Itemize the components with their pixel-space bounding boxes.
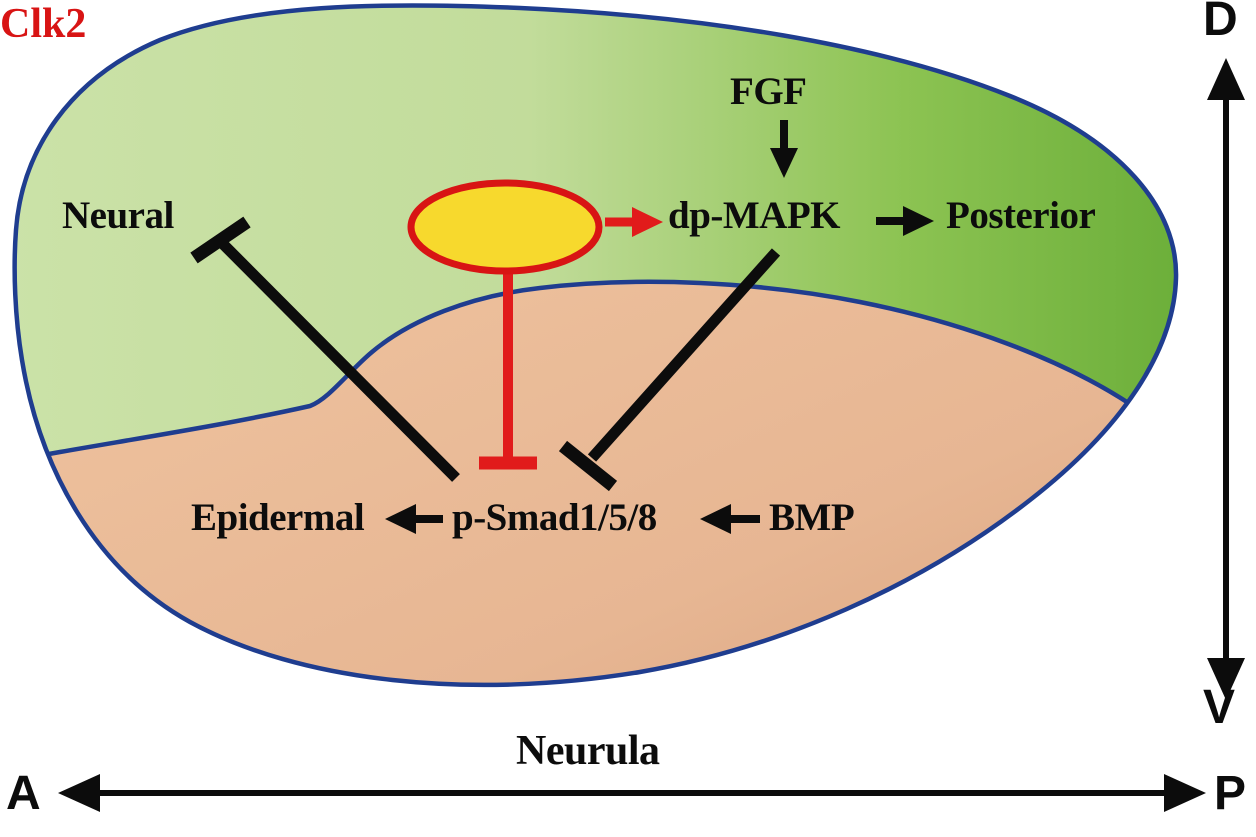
axis-label-ventral: V — [1203, 684, 1235, 732]
diagram-svg — [0, 0, 1256, 837]
node-label-fgf[interactable]: FGF — [730, 72, 806, 111]
clk2-node-ellipse[interactable] — [411, 183, 599, 271]
node-label-p-smad[interactable]: p-Smad1/5/8 — [452, 498, 657, 537]
arrowhead-left-icon — [58, 774, 100, 812]
node-label-posterior[interactable]: Posterior — [946, 196, 1095, 235]
axis-label-dorsal: D — [1203, 0, 1238, 44]
axis-label-posterior: P — [1214, 770, 1246, 818]
node-label-neural[interactable]: Neural — [62, 196, 174, 235]
arrowhead-right-icon — [1164, 774, 1206, 812]
dorsal-ventral-axis-arrow — [1207, 58, 1245, 700]
axis-label-anterior: A — [6, 770, 41, 818]
stage-label-neurula: Neurula — [516, 730, 660, 772]
node-label-epidermal[interactable]: Epidermal — [191, 498, 364, 537]
node-label-bmp[interactable]: BMP — [769, 498, 854, 537]
node-label-dp-mapk[interactable]: dp-MAPK — [668, 196, 840, 235]
anterior-posterior-axis-arrow — [58, 774, 1206, 812]
figure-canvas: Neural FGF Clk2 dp-MAPK Posterior Epider… — [0, 0, 1256, 837]
arrowhead-up-icon — [1207, 58, 1245, 100]
